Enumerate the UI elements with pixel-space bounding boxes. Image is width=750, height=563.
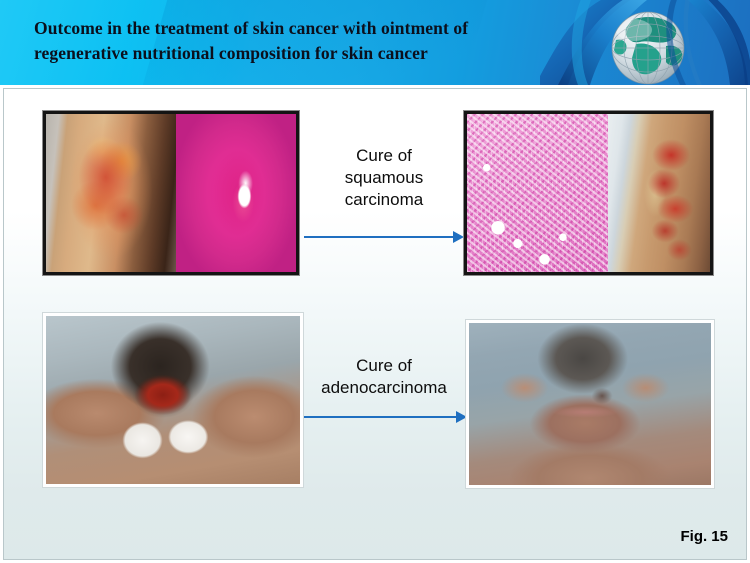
caption-adenocarcinoma: Cure of adenocarcinoma — [298, 355, 470, 399]
page-title-line-1: Outcome in the treatment of skin cancer … — [34, 16, 594, 41]
arrow-head — [453, 231, 464, 243]
caption-adenocarcinoma-line-2: adenocarcinoma — [298, 377, 470, 399]
arrow-adenocarcinoma — [304, 411, 464, 423]
neck-healed-photo — [469, 323, 711, 485]
histology-violet-photo — [467, 114, 608, 272]
arrow-shaft — [304, 236, 453, 238]
arrow-squamous — [304, 231, 464, 243]
figure-label: Fig. 15 — [680, 528, 728, 545]
page-title: Outcome in the treatment of skin cancer … — [34, 16, 594, 66]
before-treatment-adenocarcinoma — [43, 313, 303, 487]
leg-tumor-photo — [46, 114, 176, 272]
caption-squamous-line-2: squamous — [304, 167, 464, 189]
content-panel: Cure of squamous carcinoma Cure of adeno… — [3, 88, 747, 560]
arrow-shaft — [304, 416, 456, 418]
caption-squamous-line-1: Cure of — [304, 145, 464, 167]
after-treatment-squamous — [464, 111, 713, 275]
caption-squamous-line-3: carcinoma — [304, 189, 464, 211]
header-banner: Outcome in the treatment of skin cancer … — [0, 0, 750, 85]
neck-wound-photo — [46, 316, 300, 484]
page-title-line-2: regenerative nutritional composition for… — [34, 41, 594, 66]
leg-healing-photo — [608, 114, 710, 272]
caption-squamous: Cure of squamous carcinoma — [304, 145, 464, 211]
after-treatment-adenocarcinoma — [466, 320, 714, 488]
before-treatment-squamous — [43, 111, 299, 275]
slide: Outcome in the treatment of skin cancer … — [0, 0, 750, 563]
caption-adenocarcinoma-line-1: Cure of — [298, 355, 470, 377]
histology-pink-photo — [176, 114, 296, 272]
globe-in-glass-graphic — [540, 0, 750, 85]
